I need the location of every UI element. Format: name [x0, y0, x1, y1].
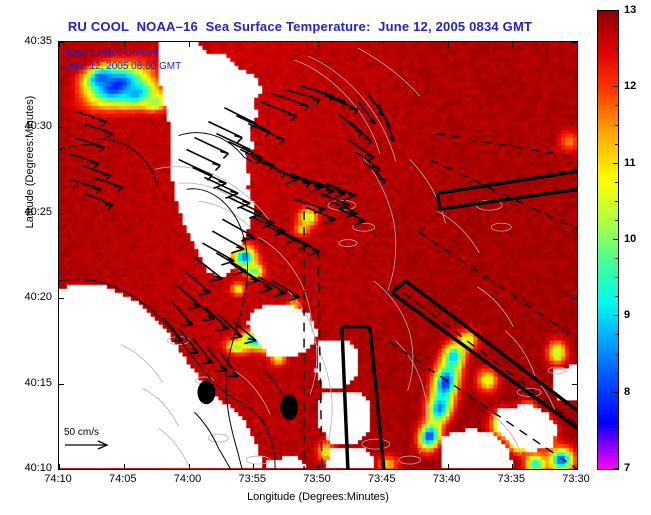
colorbar-tick-label: 9	[624, 309, 630, 321]
scale-bar: 50 cm/s	[64, 427, 112, 451]
y-tick	[59, 42, 64, 43]
plot-area: Raw Surface CurrentJune 12, 2005 08:00 G…	[58, 41, 578, 470]
colorbar-minor-tick	[615, 125, 619, 126]
x-tick	[318, 464, 319, 469]
current-annotation: Raw Surface CurrentJune 12, 2005 08:00 G…	[65, 47, 181, 73]
colorbar-minor-tick	[615, 296, 619, 297]
colorbar-tick	[613, 468, 619, 469]
colorbar-tick-label: 10	[624, 233, 636, 245]
colorbar-minor-tick	[615, 430, 619, 431]
y-tick	[572, 42, 577, 43]
current-vectors	[69, 86, 394, 377]
colorbar-tick-label: 12	[624, 80, 636, 92]
colorbar-minor-tick	[615, 258, 619, 259]
colorbar-minor-tick	[615, 220, 619, 221]
y-tick	[59, 213, 64, 214]
station-marker	[197, 380, 215, 404]
x-tick	[512, 464, 513, 469]
x-tick-label: 74:00	[174, 473, 202, 485]
colorbar-tick	[613, 86, 619, 87]
colorbar-minor-tick	[615, 411, 619, 412]
colorbar-gradient	[598, 11, 618, 469]
y-tick	[572, 213, 577, 214]
x-tick-label: 73:50	[303, 473, 331, 485]
colorbar-minor-tick	[615, 67, 619, 68]
colorbar-minor-tick	[615, 334, 619, 335]
colorbar-tick	[613, 10, 619, 11]
y-tick-label: 40:15	[12, 377, 52, 389]
colorbar-tick-label: 13	[624, 4, 636, 16]
y-axis-title: Latitude (Degrees:Minutes)	[24, 27, 36, 297]
x-axis-title: Longitude (Degrees:Minutes)	[58, 491, 578, 503]
x-tick-label: 73:30	[562, 473, 590, 485]
x-tick-label: 74:10	[44, 473, 72, 485]
colorbar-minor-tick	[615, 277, 619, 278]
y-tick	[59, 298, 64, 299]
page-title: RU COOL NOAA–16 Sea Surface Temperature:…	[0, 19, 600, 34]
x-tick	[189, 42, 190, 47]
x-tick-label: 73:55	[238, 473, 266, 485]
current-annotation-time: June 12, 2005 08:00 GMT	[65, 61, 181, 72]
colorbar-tick-label: 8	[624, 386, 630, 398]
x-tick	[383, 42, 384, 47]
y-tick	[59, 469, 64, 470]
right-arrow-icon	[64, 439, 112, 451]
x-tick	[189, 464, 190, 469]
x-tick-label: 73:40	[433, 473, 461, 485]
map-overlay-layer	[59, 42, 577, 469]
x-tick	[577, 464, 578, 469]
x-tick	[318, 42, 319, 47]
x-tick-label: 74:05	[109, 473, 137, 485]
x-tick	[577, 42, 578, 47]
colorbar-minor-tick	[615, 201, 619, 202]
scale-bar-label: 50 cm/s	[64, 427, 112, 438]
colorbar-minor-tick	[615, 373, 619, 374]
x-tick	[124, 464, 125, 469]
y-tick	[59, 384, 64, 385]
colorbar-minor-tick	[615, 354, 619, 355]
x-tick	[383, 464, 384, 469]
y-tick	[572, 384, 577, 385]
colorbar-minor-tick	[615, 182, 619, 183]
colorbar-tick	[613, 392, 619, 393]
y-tick	[59, 127, 64, 128]
station-marker	[280, 394, 298, 420]
x-tick	[253, 42, 254, 47]
colorbar-tick	[613, 315, 619, 316]
station-markers	[197, 380, 298, 420]
colorbar	[597, 10, 619, 470]
y-tick	[572, 469, 577, 470]
colorbar-minor-tick	[615, 29, 619, 30]
colorbar-tick-label: 11	[624, 157, 636, 169]
colorbar-tick	[613, 239, 619, 240]
colorbar-minor-tick	[615, 105, 619, 106]
colorbar-minor-tick	[615, 144, 619, 145]
colorbar-tick-label: 7	[624, 462, 630, 474]
x-tick	[512, 42, 513, 47]
y-tick	[572, 298, 577, 299]
x-tick-label: 73:35	[497, 473, 525, 485]
x-tick-label: 73:45	[368, 473, 396, 485]
colorbar-minor-tick	[615, 449, 619, 450]
coastline	[59, 133, 288, 469]
x-tick	[448, 42, 449, 47]
x-tick	[253, 464, 254, 469]
current-annotation-label: Raw Surface Current	[65, 48, 158, 59]
colorbar-minor-tick	[615, 48, 619, 49]
x-tick	[448, 464, 449, 469]
y-tick	[572, 127, 577, 128]
colorbar-tick	[613, 163, 619, 164]
y-tick-label: 40:10	[12, 462, 52, 474]
shipping-lane-corridors	[342, 171, 577, 469]
sst-map-figure: RU COOL NOAA–16 Sea Surface Temperature:…	[0, 0, 651, 515]
